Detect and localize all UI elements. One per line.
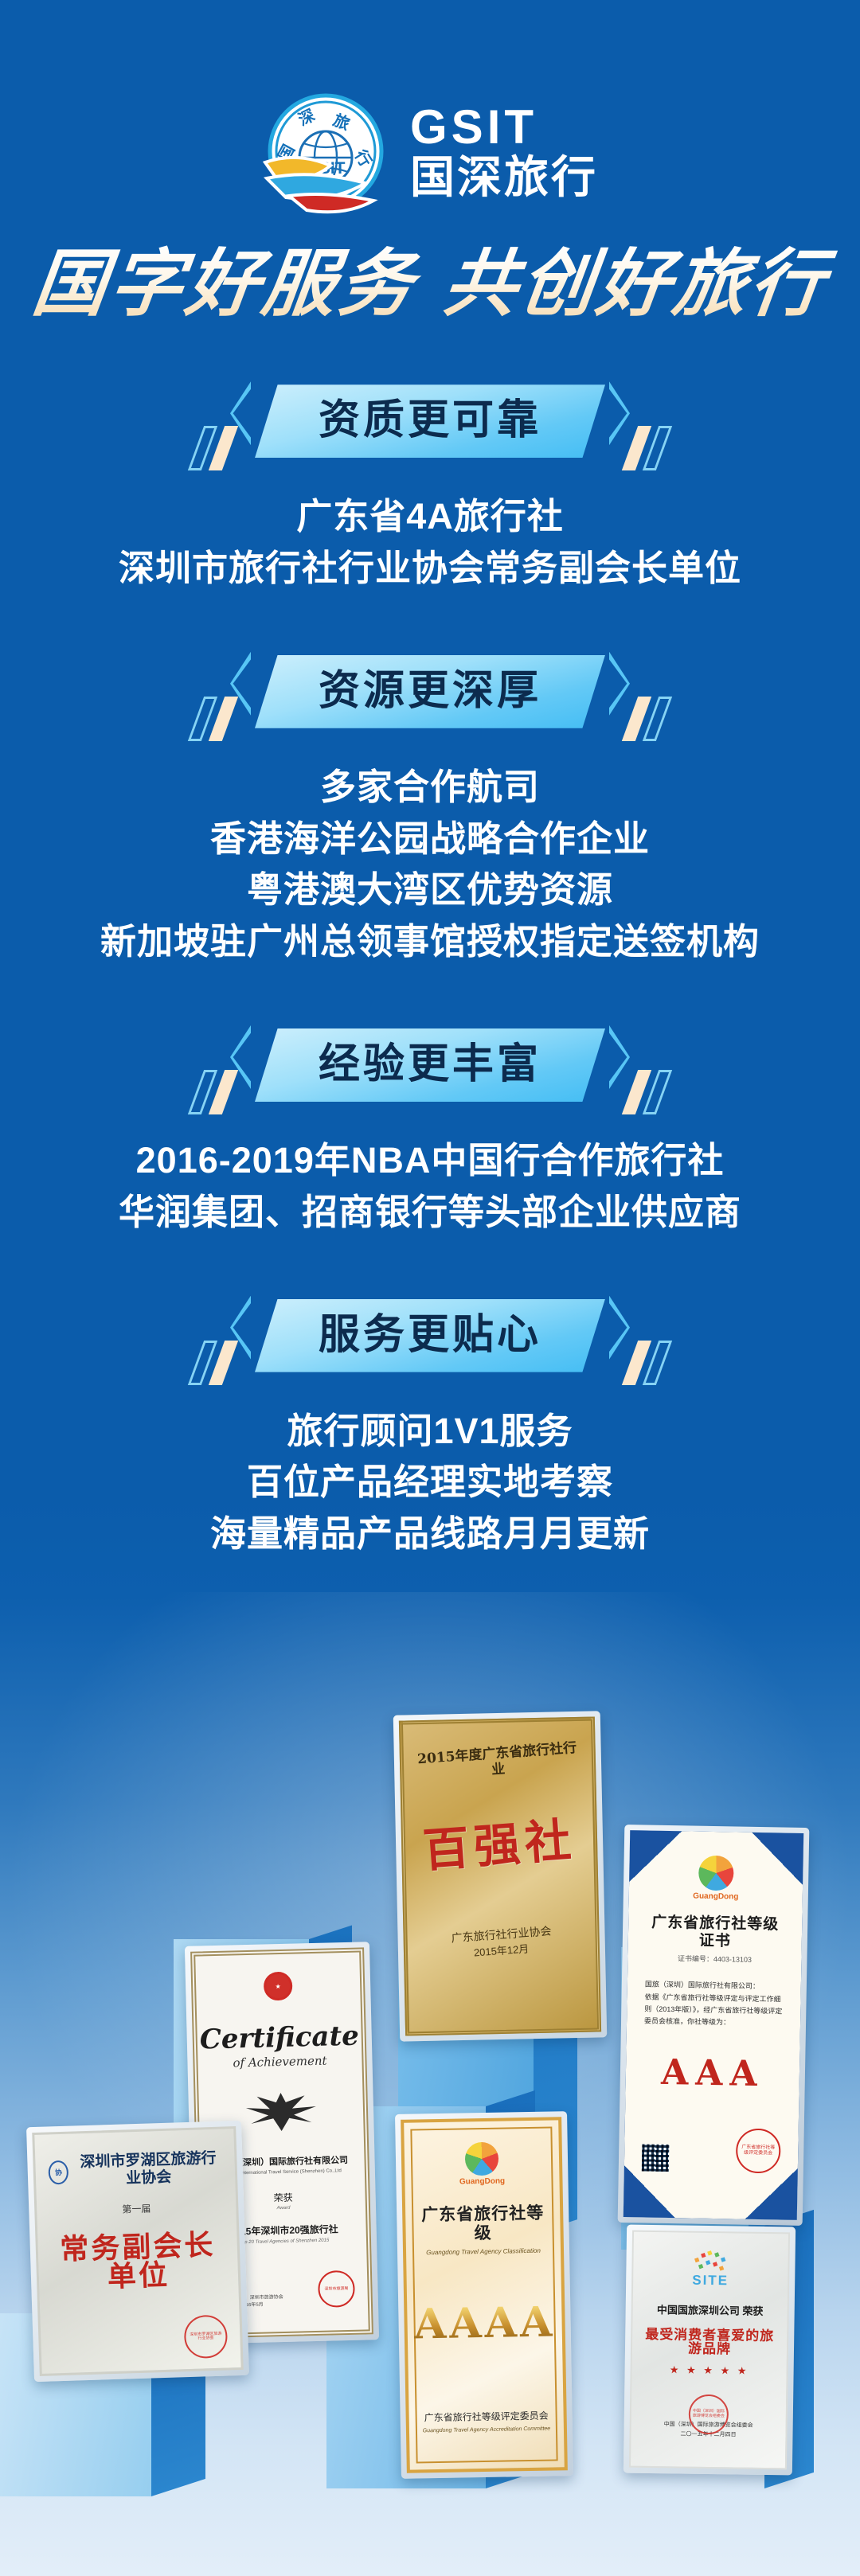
award-site-most-loved-travel-brand[interactable]: SITE 中国国旅深圳公司 荣获 最受消费者喜爱的旅游品牌 ★ ★ ★ ★ ★ … bbox=[623, 2224, 795, 2475]
chevron-right-icon bbox=[609, 1025, 630, 1089]
plaque-header: 2015年度广东省旅行社行业 bbox=[414, 1740, 581, 1783]
badge-plate: 服务更贴心 bbox=[255, 1299, 605, 1372]
plaque-header: 深圳市罗湖区旅游行业协会 bbox=[74, 2150, 222, 2189]
seal-text: 中国（深圳）国际旅游博览会组委会 bbox=[693, 2410, 725, 2419]
brand-name-en: GSIT bbox=[410, 103, 598, 151]
qr-code-icon bbox=[642, 2144, 670, 2172]
plaque-title-cn: 广东省旅行社等级 bbox=[418, 2204, 548, 2245]
plaque-inner: GuangDong 广东省旅行社等级证书 证书编号：4403-13103 国旅（… bbox=[623, 1830, 803, 2220]
plaque-inner: 协 深圳市罗湖区旅游行业协会 第一届 常务副会长单位 深圳市罗湖区旅游行业协会 bbox=[32, 2126, 243, 2376]
guangdong-tourism-logo-icon bbox=[465, 2142, 499, 2176]
section-badge-label: 经验更丰富 bbox=[319, 1044, 541, 1085]
badge-decor-right bbox=[630, 1070, 664, 1114]
plaque-grade: AAA bbox=[661, 2055, 764, 2091]
section-lines: 多家合作航司 香港海洋公园战略合作企业 粤港澳大湾区优势资源 新加坡驻广州总领事… bbox=[0, 762, 860, 968]
chevron-right-icon bbox=[609, 652, 630, 716]
tagline: 国字好服务 共创好旅行 bbox=[0, 244, 860, 324]
plaque-content: GuangDong 广东省旅行社等级证书 证书编号：4403-13103 国旅（… bbox=[624, 1830, 804, 2184]
plaque-line1: 中国国旅深圳公司 荣获 bbox=[657, 2304, 764, 2319]
badge-plate: 经验更丰富 bbox=[255, 1028, 605, 1102]
badge-decor-left bbox=[196, 1341, 230, 1385]
plaque-inner: 2015年度广东省旅行社行业 百强社 广东旅行社行业协会 2015年12月 bbox=[399, 1716, 601, 2035]
section-badge: 服务更贴心 bbox=[0, 1291, 860, 1380]
plaque-code-label: 证书编号： bbox=[678, 1954, 713, 1963]
gsit-emblem-icon: 国 深 旅 行 GSIT bbox=[262, 89, 389, 217]
certificate-award-label-en: Award bbox=[276, 2206, 290, 2212]
certificate-title-en: Certificate bbox=[199, 2023, 359, 2054]
plaque-main-text: 常务副会长单位 bbox=[50, 2231, 225, 2293]
official-seal-icon: 深圳市旅游局 bbox=[318, 2270, 355, 2308]
plaque-grade: AAAA bbox=[413, 2301, 555, 2345]
chevron-right-icon bbox=[609, 1296, 630, 1360]
section-line: 香港海洋公园战略合作企业 bbox=[0, 814, 860, 865]
section-line: 2016-2019年NBA中国行合作旅行社 bbox=[0, 1135, 860, 1187]
section-qualification: 资质更可靠 广东省4A旅行社 深圳市旅行社行业协会常务副会长单位 bbox=[0, 377, 860, 595]
plaque-main-text: 百强社 bbox=[421, 1817, 577, 1874]
section-badge-label: 资源更深厚 bbox=[319, 670, 541, 712]
plaque-header-row: 协 深圳市罗湖区旅游行业协会 bbox=[48, 2150, 222, 2191]
plaque-main-text: 最受消费者喜爱的旅游品牌 bbox=[642, 2328, 777, 2357]
national-emblem-seal-icon: ★ bbox=[264, 1972, 293, 2001]
official-seal-icon: 深圳市罗湖区旅游行业协会 bbox=[184, 2315, 229, 2359]
plaque-title: 广东省旅行社等级证书 bbox=[646, 1914, 785, 1951]
section-line: 华润集团、招商银行等头部企业供应商 bbox=[0, 1187, 860, 1239]
seal-text: 深圳市旅游局 bbox=[324, 2287, 348, 2292]
plaque-inner: SITE 中国国旅深圳公司 荣获 最受消费者喜爱的旅游品牌 ★ ★ ★ ★ ★ … bbox=[629, 2231, 790, 2470]
award-guangdong-travel-agency-grade-aaa[interactable]: GuangDong 广东省旅行社等级证书 证书编号：4403-13103 国旅（… bbox=[618, 1825, 810, 2226]
plaque-code-value: 4403-13103 bbox=[713, 1955, 752, 1964]
section-lines: 旅行顾问1V1服务 百位产品经理实地考察 海量精品产品线路月月更新 bbox=[0, 1406, 860, 1560]
plaque-issuer-cn: 广东省旅行社等级评定委员会 bbox=[424, 2410, 549, 2424]
certificate-subtitle-en: of Achievement bbox=[233, 2054, 327, 2071]
star-rating: ★ ★ ★ ★ ★ bbox=[670, 2363, 749, 2377]
section-line: 粤港澳大湾区优势资源 bbox=[0, 865, 860, 916]
eagle-emblem-icon bbox=[242, 2086, 319, 2137]
certificate-award-line: 2015年深圳市20强旅行社 bbox=[230, 2223, 338, 2238]
guangdong-logo-label: GuangDong bbox=[693, 1891, 738, 1901]
official-seal-icon: 中国（深圳）国际旅游博览会组委会 bbox=[689, 2394, 729, 2434]
section-lines: 广东省4A旅行社 深圳市旅行社行业协会常务副会长单位 bbox=[0, 491, 860, 595]
badge-decor-right bbox=[630, 697, 664, 741]
section-line: 深圳市旅行社行业协会常务副会长单位 bbox=[0, 543, 860, 595]
section-resources: 资源更深厚 多家合作航司 香港海洋公园战略合作企业 粤港澳大湾区优势资源 新加坡… bbox=[0, 647, 860, 968]
section-line: 广东省4A旅行社 bbox=[0, 491, 860, 543]
section-line: 新加坡驻广州总领事馆授权指定送签机构 bbox=[0, 916, 860, 968]
plaque-issuer: 广东旅行社行业协会 bbox=[451, 1923, 552, 1945]
section-service: 服务更贴心 旅行顾问1V1服务 百位产品经理实地考察 海量精品产品线路月月更新 bbox=[0, 1291, 860, 1560]
plaque-term: 第一届 bbox=[122, 2203, 150, 2216]
certificate-award-label: 荣获 bbox=[273, 2192, 292, 2204]
association-emblem-icon: 协 bbox=[48, 2160, 68, 2184]
badge-decor-right bbox=[630, 426, 664, 470]
section-lines: 2016-2019年NBA中国行合作旅行社 华润集团、招商银行等头部企业供应商 bbox=[0, 1135, 860, 1239]
site-logo-icon bbox=[690, 2247, 731, 2275]
section-line: 旅行顾问1V1服务 bbox=[0, 1406, 860, 1458]
badge-plate: 资质更可靠 bbox=[255, 384, 605, 458]
badge-decor-left bbox=[196, 426, 230, 470]
certificate-award-line-en: Top 20 Travel Agencies of Shenzhen 2015 bbox=[240, 2238, 330, 2246]
section-badge: 资源更深厚 bbox=[0, 647, 860, 736]
plaque-issuer-en: Guangdong Travel Agency Accreditation Co… bbox=[423, 2426, 551, 2435]
seal-text: 深圳市罗湖区旅游行业协会 bbox=[189, 2332, 222, 2341]
section-line: 多家合作航司 bbox=[0, 762, 860, 814]
plaque-footer-row: 广东省旅行社等级评定委员会 bbox=[642, 2126, 781, 2173]
poster-root: 国 深 旅 行 GSIT GSIT 国深旅行 国字好服务 共创好旅行 bbox=[0, 0, 860, 2488]
section-line: 百位产品经理实地考察 bbox=[0, 1457, 860, 1509]
plaque-inner: GuangDong 广东省旅行社等级 Guangdong Travel Agen… bbox=[401, 2117, 568, 2473]
guangdong-tourism-logo-icon bbox=[698, 1856, 734, 1891]
brand-name-cn: 国深旅行 bbox=[410, 153, 598, 202]
badge-decor-left bbox=[196, 697, 230, 741]
section-badge: 经验更丰富 bbox=[0, 1021, 860, 1110]
section-badge: 资质更可靠 bbox=[0, 377, 860, 466]
section-line: 海量精品产品线路月月更新 bbox=[0, 1509, 860, 1560]
award-guangdong-travel-agency-grade-aaaa[interactable]: GuangDong 广东省旅行社等级 Guangdong Travel Agen… bbox=[395, 2111, 573, 2479]
official-seal-icon: 广东省旅行社等级评定委员会 bbox=[736, 2128, 781, 2173]
section-badge-label: 服务更贴心 bbox=[319, 1314, 541, 1356]
brand-logo: 国 深 旅 行 GSIT GSIT 国深旅行 bbox=[0, 0, 860, 217]
badge-decor-right bbox=[630, 1341, 664, 1385]
guangdong-logo-label: GuangDong bbox=[459, 2176, 505, 2186]
award-top-100-travel-agency-plaque[interactable]: 2015年度广东省旅行社行业 百强社 广东旅行社行业协会 2015年12月 bbox=[393, 1711, 608, 2041]
chevron-right-icon bbox=[609, 381, 630, 445]
plaque-code: 证书编号：4403-13103 bbox=[678, 1954, 752, 1965]
awards-showcase: 2015年度广东省旅行社行业 百强社 广东旅行社行业协会 2015年12月 Gu… bbox=[0, 1597, 860, 2488]
site-logo-label: SITE bbox=[692, 2273, 729, 2289]
section-badge-label: 资质更可靠 bbox=[319, 400, 541, 441]
plaque-date: 2015年12月 bbox=[474, 1943, 530, 1961]
award-luohu-tourism-association-vice-chairman[interactable]: 协 深圳市罗湖区旅游行业协会 第一届 常务副会长单位 深圳市罗湖区旅游行业协会 bbox=[26, 2121, 249, 2382]
brand-wordmark: GSIT 国深旅行 bbox=[410, 103, 598, 202]
badge-plate: 资源更深厚 bbox=[255, 655, 605, 728]
plaque-title-en: Guangdong Travel Agency Classification bbox=[426, 2247, 541, 2258]
seal-text: 广东省旅行社等级评定委员会 bbox=[741, 2145, 776, 2156]
badge-decor-left bbox=[196, 1070, 230, 1114]
plaque-body: 国旅（深圳）国际旅行社有限公司： 依据《广东省旅行社等级评定与评定工作细则（20… bbox=[644, 1979, 784, 2030]
section-experience: 经验更丰富 2016-2019年NBA中国行合作旅行社 华润集团、招商银行等头部… bbox=[0, 1021, 860, 1239]
